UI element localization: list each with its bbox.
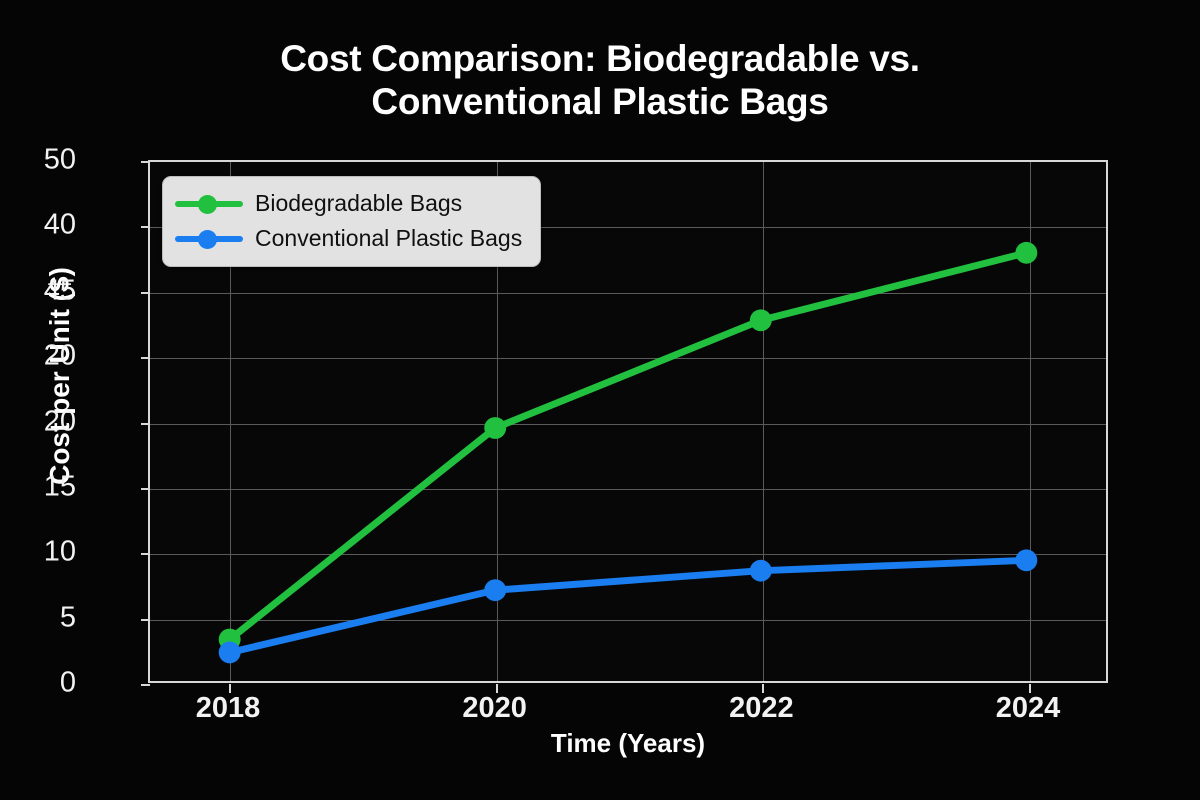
- legend-entry[interactable]: Biodegradable Bags: [175, 186, 522, 221]
- chart-title: Cost Comparison: Biodegradable vs. Conve…: [0, 38, 1200, 124]
- y-tick-label: 45: [0, 274, 92, 307]
- series-data-point[interactable]: [1015, 242, 1037, 264]
- x-tick-label: 2020: [415, 692, 575, 725]
- series-data-point[interactable]: [1015, 549, 1037, 571]
- series-data-point[interactable]: [750, 309, 772, 331]
- plot-area: Biodegradable BagsConventional Plastic B…: [148, 160, 1108, 683]
- chart-legend[interactable]: Biodegradable BagsConventional Plastic B…: [162, 176, 541, 267]
- x-axis-label: Time (Years): [148, 728, 1108, 759]
- legend-entry[interactable]: Conventional Plastic Bags: [175, 221, 522, 256]
- y-tick-label: 20: [0, 405, 92, 438]
- y-tick-label: 20: [0, 340, 92, 373]
- series-line: [230, 560, 1027, 652]
- x-tick-label: 2018: [148, 692, 308, 725]
- y-tick-mark: [141, 292, 150, 294]
- y-tick-mark: [141, 488, 150, 490]
- y-tick-label: 50: [0, 144, 92, 177]
- series-data-point[interactable]: [219, 642, 241, 664]
- y-tick-label: 10: [0, 536, 92, 569]
- y-tick-label: 5: [0, 601, 92, 634]
- legend-marker-icon: [175, 191, 243, 217]
- chart-figure: Cost Comparison: Biodegradable vs. Conve…: [0, 0, 1200, 800]
- series-data-point[interactable]: [484, 579, 506, 601]
- y-tick-mark: [141, 684, 150, 686]
- series-data-point[interactable]: [750, 560, 772, 582]
- y-tick-mark: [141, 423, 150, 425]
- y-tick-mark: [141, 161, 150, 163]
- y-tick-label: 0: [0, 667, 92, 700]
- y-tick-label: 15: [0, 470, 92, 503]
- y-tick-mark: [141, 619, 150, 621]
- y-tick-mark: [141, 357, 150, 359]
- legend-marker-icon: [175, 226, 243, 252]
- legend-label: Biodegradable Bags: [255, 190, 462, 217]
- series-data-point[interactable]: [484, 417, 506, 439]
- legend-label: Conventional Plastic Bags: [255, 225, 522, 252]
- x-tick-label: 2022: [681, 692, 841, 725]
- x-tick-label: 2024: [948, 692, 1108, 725]
- y-tick-mark: [141, 226, 150, 228]
- y-tick-mark: [141, 553, 150, 555]
- y-tick-label: 40: [0, 209, 92, 242]
